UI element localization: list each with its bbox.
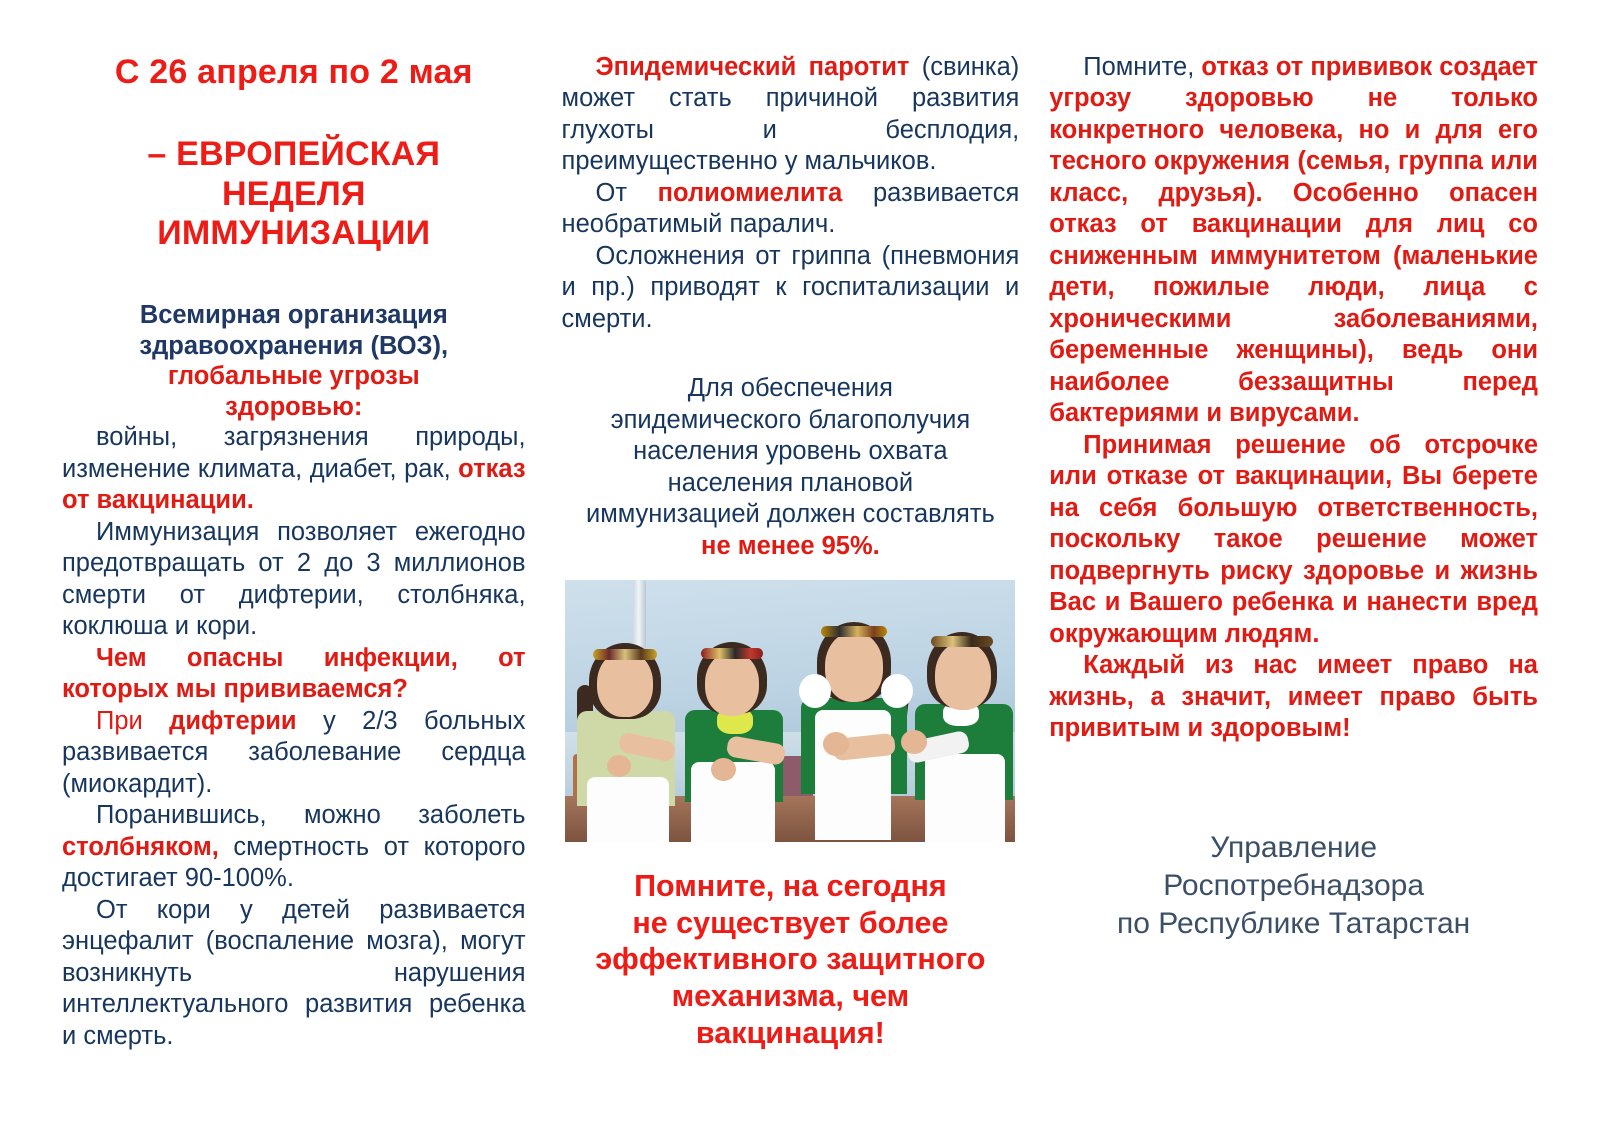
- para-refusal-pre: Помните,: [1083, 53, 1201, 81]
- photo-child-1-head: [597, 651, 653, 717]
- para-tetanus-term: столбняком,: [62, 833, 219, 861]
- column-middle: Эпидемический паротит (свинка) может ста…: [548, 52, 1034, 1051]
- photo-child-3-head: [825, 632, 883, 702]
- coverage-line-4: населения плановой: [668, 469, 913, 497]
- photo-child-2: [677, 622, 789, 842]
- photo-child-4: [913, 618, 1015, 842]
- header-title-line-2: НЕДЕЛЯ: [222, 175, 366, 213]
- para-measles: От кори у детей развивается энцефалит (в…: [62, 895, 526, 1052]
- who-heading-line-3: глобальные угрозы: [62, 361, 526, 392]
- coverage-line-1: Для обеспечения: [688, 374, 893, 402]
- who-heading-line-4: здоровью:: [62, 392, 526, 423]
- heading-why-infections-dangerous: Чем опасны инфекции, от которых мы приви…: [62, 643, 526, 706]
- column-right: Помните, отказ от прививок создает угроз…: [1033, 52, 1538, 944]
- photo-child-3-apron: [815, 710, 891, 840]
- header-title-line-1: – ЕВРОПЕЙСКАЯ: [147, 135, 440, 173]
- para-coverage-target: Для обеспечения эпидемического благополу…: [562, 373, 1020, 562]
- photo-child-3-headband: [821, 626, 887, 637]
- para-polio: От полиомиелита развивается необратимый …: [562, 178, 1020, 241]
- photo-container: [562, 580, 1020, 842]
- para-tetanus-pre: Поранившись, можно заболеть: [96, 801, 526, 829]
- photo-child-1-apron: [587, 777, 669, 842]
- para-diphtheria-pre: При: [96, 707, 169, 735]
- para-right-to-life: Каждый из нас имеет право на жизнь, а зн…: [1049, 650, 1538, 744]
- para-refusal-risk: Помните, отказ от прививок создает угроз…: [1049, 52, 1538, 430]
- banner-line-3: эффективного защитного: [595, 942, 985, 976]
- para-global-threats-plain: войны, загрязнения природы, изменение кл…: [62, 423, 526, 482]
- signature-line-2: Роспотребнадзора: [1049, 867, 1538, 905]
- coverage-highlight: не менее 95%.: [701, 532, 880, 560]
- photo-child-4-head: [935, 642, 991, 710]
- photo-child-1: [571, 627, 679, 842]
- signature-line-1: Управление: [1049, 829, 1538, 867]
- signature-line-3: по Республике Татарстан: [1049, 905, 1538, 943]
- who-heading-line-2: здравоохранения (ВОЗ),: [62, 331, 526, 362]
- coverage-line-2: эпидемического благополучия: [611, 406, 971, 434]
- para-diphtheria: При дифтерии у 2/3 больных развивается з…: [62, 706, 526, 800]
- para-mumps: Эпидемический паротит (свинка) может ста…: [562, 52, 1020, 178]
- para-mumps-term: Эпидемический паротит: [596, 53, 910, 81]
- banner-line-4: механизма, чем: [672, 979, 910, 1013]
- header-date: С 26 апреля по 2 мая: [62, 52, 526, 93]
- photo-child-2-headband: [701, 648, 763, 659]
- para-diphtheria-term: дифтерии: [169, 707, 296, 735]
- signature-block: Управление Роспотребнадзора по Республик…: [1049, 829, 1538, 944]
- para-refusal-body: отказ от прививок создает угрозу здоровь…: [1049, 53, 1538, 427]
- photo-schoolgirls-showing-vaccinated-arms: [565, 580, 1015, 842]
- header-title-line-3: ИММУНИЗАЦИИ: [157, 214, 430, 252]
- photo-child-2-head: [705, 652, 759, 716]
- para-polio-pre: От: [596, 179, 658, 207]
- para-tetanus: Поранившись, можно заболеть столбняком, …: [62, 800, 526, 894]
- photo-child-3: [793, 614, 913, 842]
- brochure-page: С 26 апреля по 2 мая – ЕВРОПЕЙСКАЯ НЕДЕЛ…: [0, 0, 1600, 1131]
- photo-child-3-bow-right: [881, 674, 913, 708]
- para-immunization-prevents: Иммунизация позволяет ежегодно предотвра…: [62, 517, 526, 643]
- coverage-line-5: иммунизацией должен составлять: [586, 500, 995, 528]
- para-influenza: Осложнения от гриппа (пневмония и пр.) п…: [562, 241, 1020, 335]
- column-left: С 26 апреля по 2 мая – ЕВРОПЕЙСКАЯ НЕДЕЛ…: [62, 52, 548, 1052]
- para-global-threats: войны, загрязнения природы, изменение кл…: [62, 422, 526, 516]
- header-title: – ЕВРОПЕЙСКАЯ НЕДЕЛЯ ИММУНИЗАЦИИ: [62, 135, 526, 254]
- para-polio-term: полиомиелита: [658, 179, 843, 207]
- para-decision-responsibility: Принимая решение об отсрочке или отказе …: [1049, 430, 1538, 650]
- who-heading-line-1: Всемирная организация: [62, 300, 526, 331]
- banner-line-1: Помните, на сегодня: [634, 869, 947, 903]
- coverage-line-3: населения уровень охвата: [633, 437, 947, 465]
- photo-child-4-headband: [931, 636, 993, 647]
- banner-no-better-protection: Помните, на сегодня не существует более …: [562, 868, 1020, 1051]
- spacer-coverage: [562, 335, 1020, 373]
- photo-child-4-apron: [925, 754, 1005, 842]
- banner-line-5: вакцинация!: [696, 1016, 885, 1050]
- photo-child-1-headband: [593, 649, 657, 660]
- banner-line-2: не существует более: [632, 906, 948, 940]
- who-heading: Всемирная организация здравоохранения (В…: [62, 300, 526, 422]
